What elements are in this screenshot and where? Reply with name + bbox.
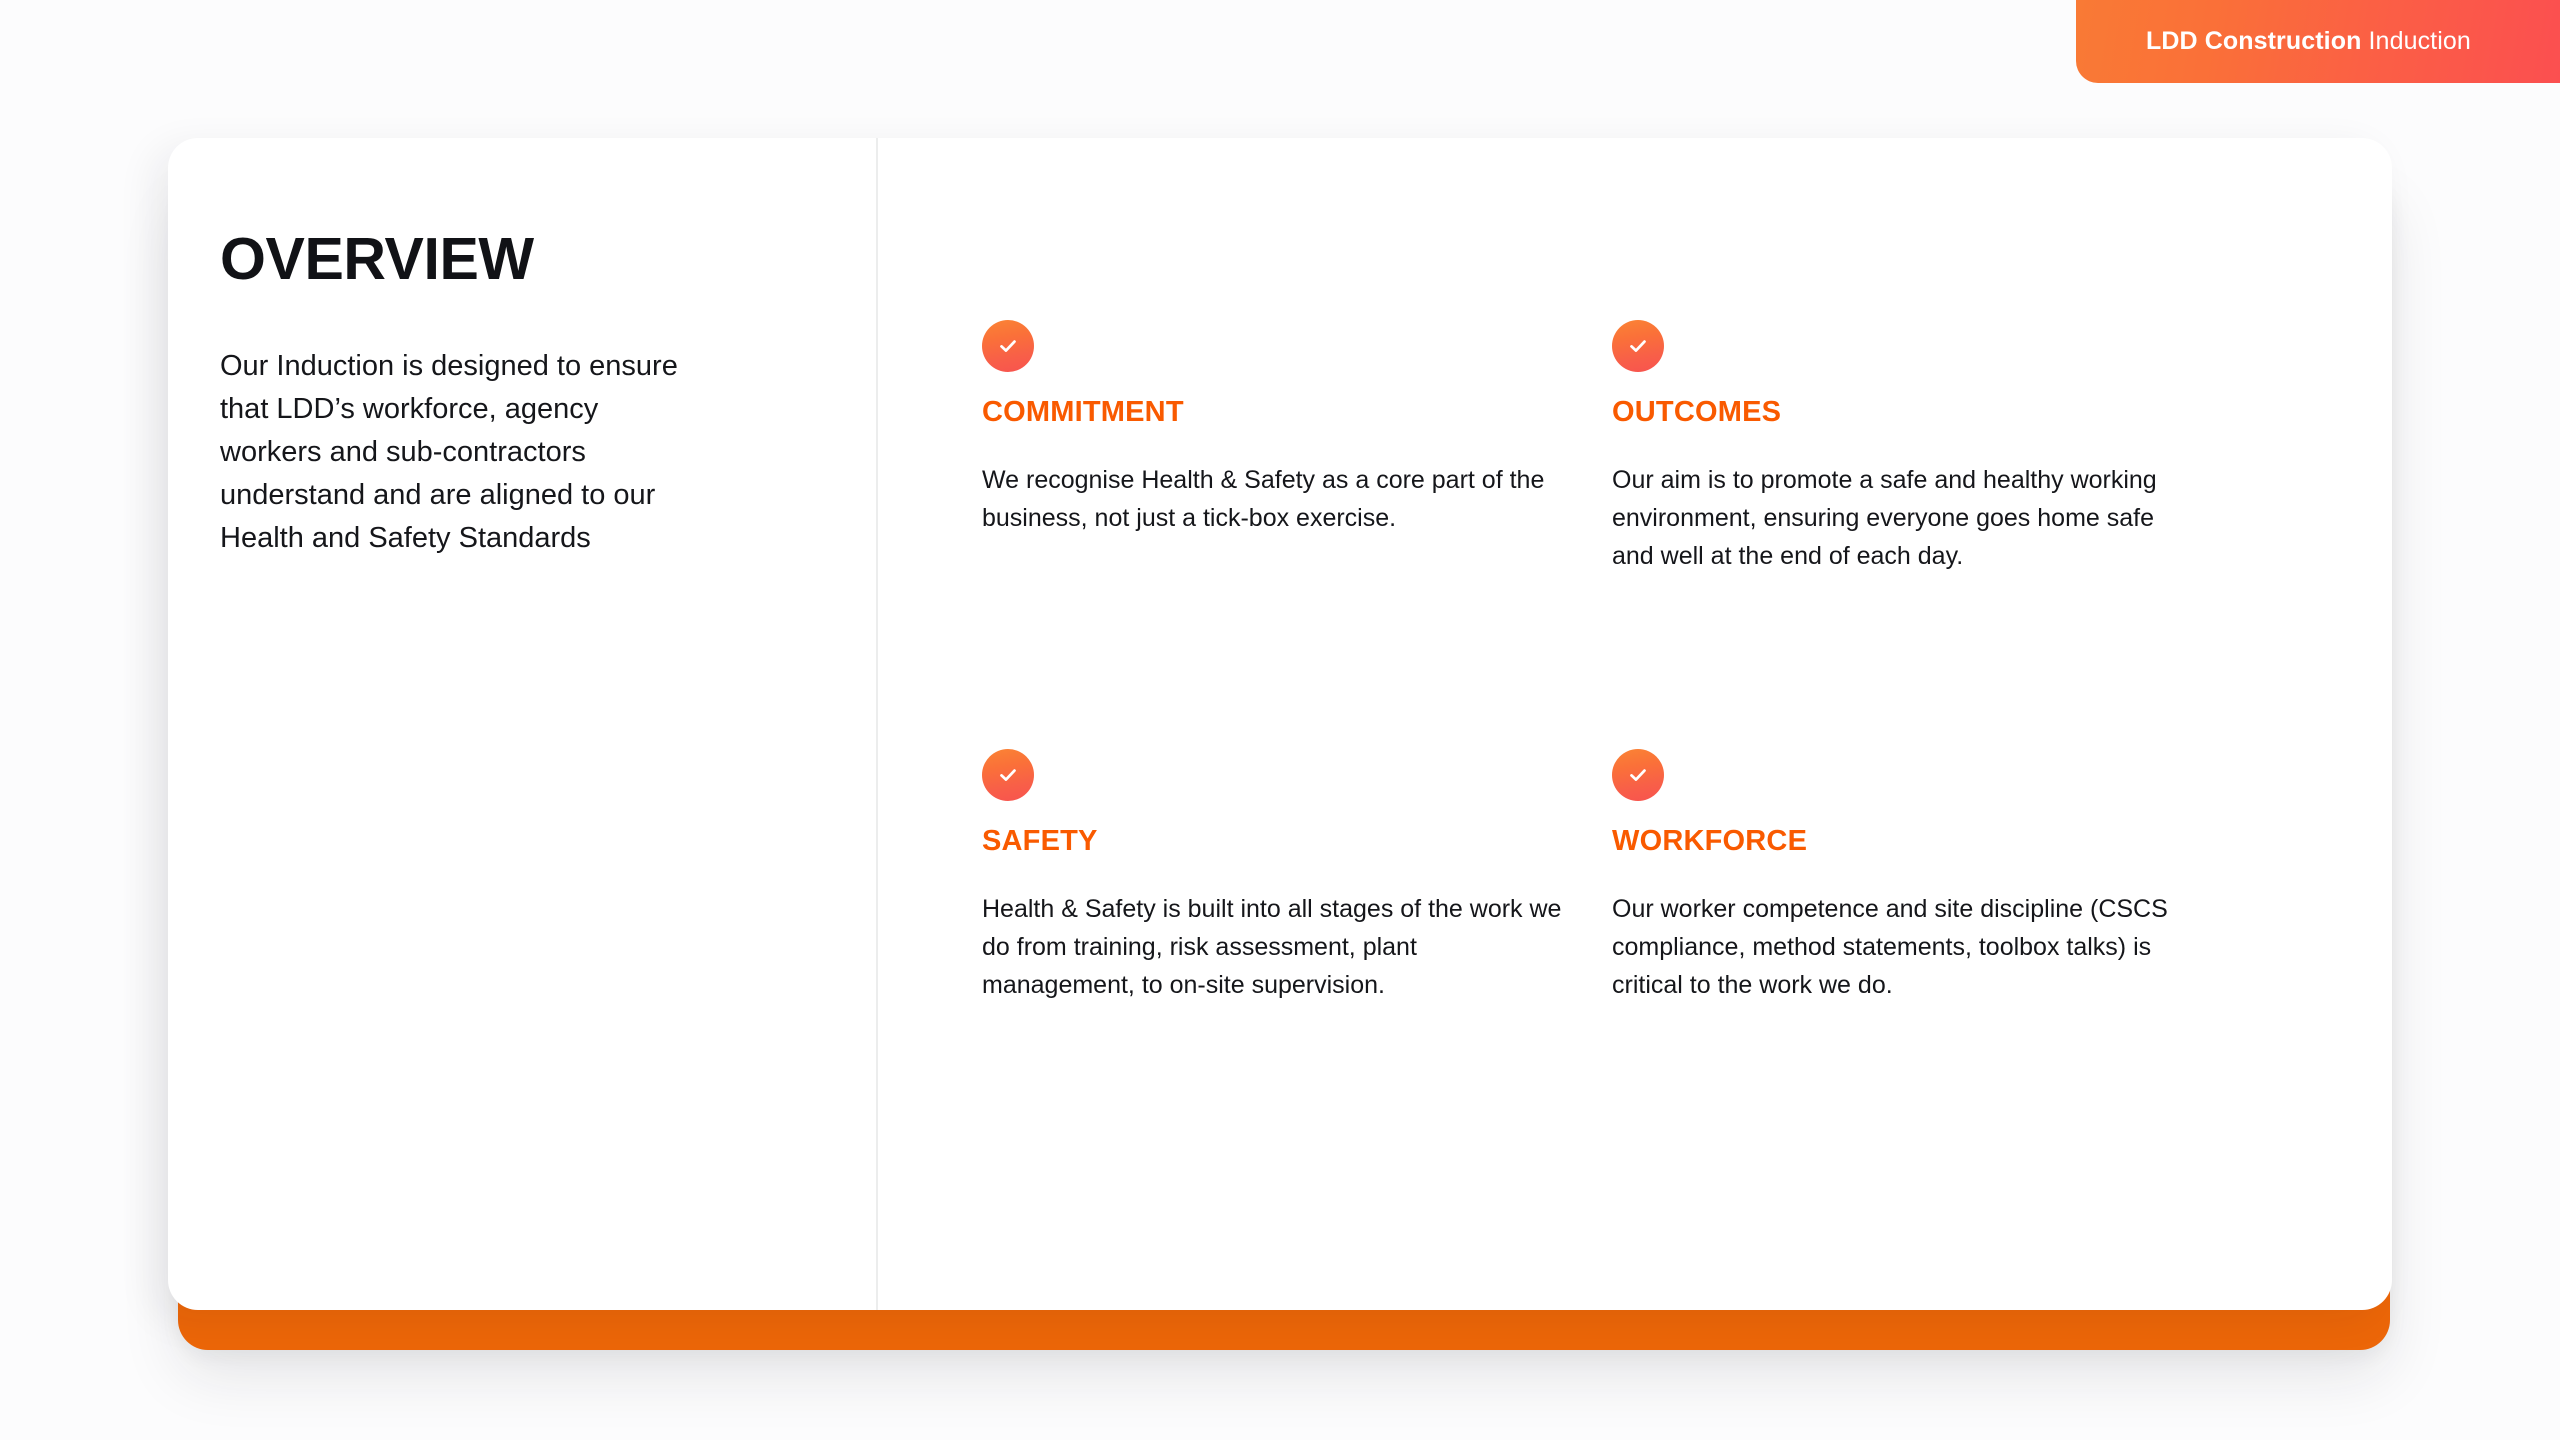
page-title: OVERVIEW <box>220 230 806 289</box>
course-badge: LDD Construction Induction <box>2076 0 2560 83</box>
course-badge-brand: LDD Construction <box>2146 27 2361 55</box>
feature-card-outcomes: OUTCOMES Our aim is to promote a safe an… <box>1612 320 2192 575</box>
feature-title: WORKFORCE <box>1612 827 2192 856</box>
overview-right-column: COMMITMENT We recognise Health & Safety … <box>878 138 2392 1310</box>
feature-grid: COMMITMENT We recognise Health & Safety … <box>982 320 2332 1004</box>
overview-card: OVERVIEW Our Induction is designed to en… <box>168 138 2392 1310</box>
feature-card-commitment: COMMITMENT We recognise Health & Safety … <box>982 320 1562 575</box>
overview-card-stack: OVERVIEW Our Induction is designed to en… <box>168 138 2392 1310</box>
check-circle-icon <box>982 320 1034 372</box>
feature-card-workforce: WORKFORCE Our worker competence and site… <box>1612 749 2192 1004</box>
overview-intro-text: Our Induction is designed to ensure that… <box>220 345 700 560</box>
course-badge-suffix: Induction <box>2361 27 2470 55</box>
course-badge-label: LDD Construction Induction <box>2146 27 2471 56</box>
feature-body: Health & Safety is built into all stages… <box>982 890 1562 1004</box>
check-circle-icon <box>1612 320 1664 372</box>
check-circle-icon <box>1612 749 1664 801</box>
feature-title: COMMITMENT <box>982 398 1562 427</box>
feature-body: We recognise Health & Safety as a core p… <box>982 461 1562 537</box>
feature-title: OUTCOMES <box>1612 398 2192 427</box>
feature-card-safety: SAFETY Health & Safety is built into all… <box>982 749 1562 1004</box>
overview-left-column: OVERVIEW Our Induction is designed to en… <box>168 138 878 1310</box>
feature-body: Our aim is to promote a safe and healthy… <box>1612 461 2192 575</box>
feature-title: SAFETY <box>982 827 1562 856</box>
check-circle-icon <box>982 749 1034 801</box>
feature-body: Our worker competence and site disciplin… <box>1612 890 2192 1004</box>
